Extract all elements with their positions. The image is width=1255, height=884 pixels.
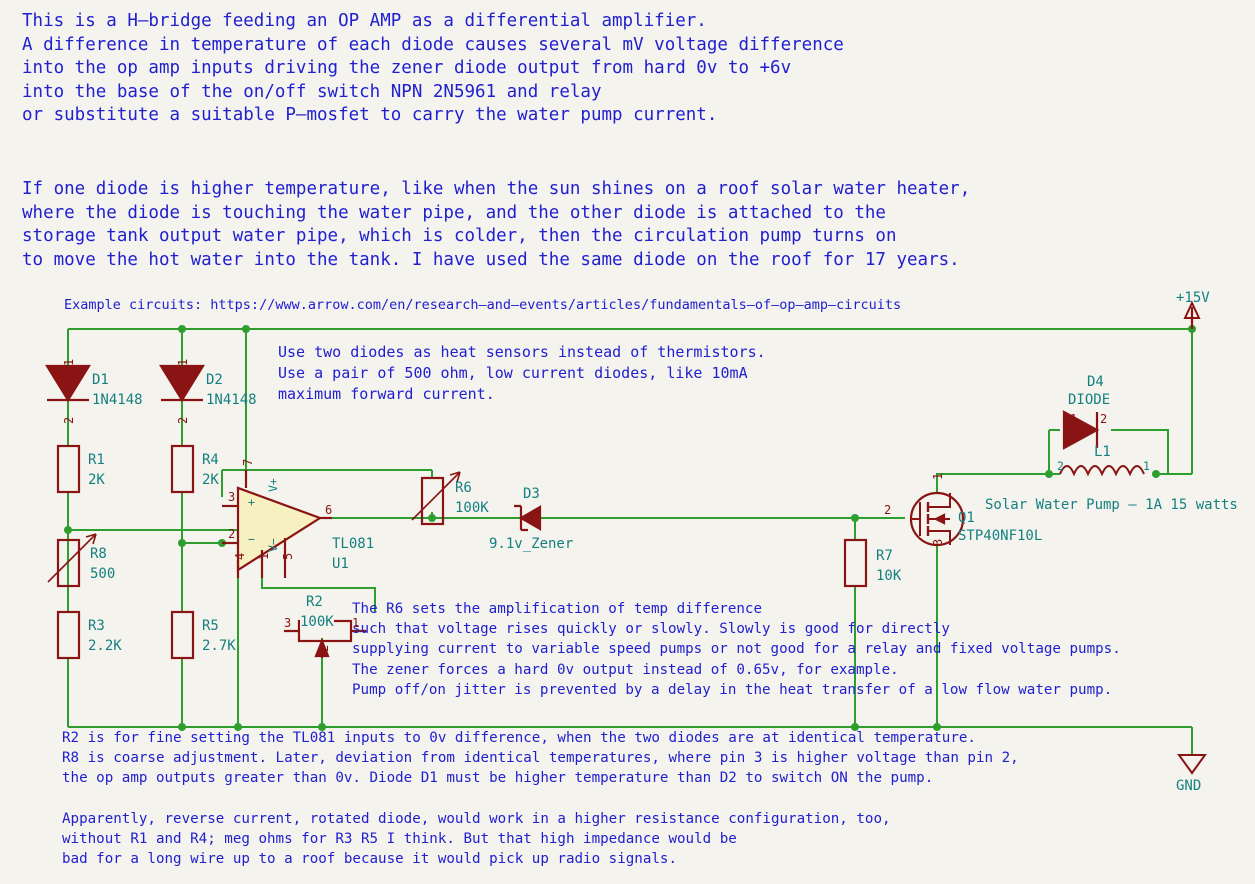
u1-minus-symbol: −	[248, 532, 255, 546]
r4-ref-label: R4	[202, 452, 219, 468]
r2-ref-label: R2	[306, 594, 323, 610]
q1-ref-label: Q1	[958, 510, 975, 526]
q1-pin2: 2	[884, 503, 891, 517]
d1-value-label: 1N4148	[92, 392, 143, 408]
junction-pump-right	[1152, 470, 1160, 478]
vcc-label: +15V	[1176, 290, 1210, 306]
r6-note: The R6 sets the amplification of temp di…	[352, 599, 1121, 700]
diode-note: Use two diodes as heat sensors instead o…	[278, 342, 766, 405]
diode-note-line-2: Use a pair of 500 ohm, low current diode…	[278, 364, 748, 382]
schematic-canvas: This is a H—bridge feeding an OP AMP as …	[0, 0, 1255, 884]
u1-vminus-symbol: V−	[266, 538, 280, 552]
gnd-triangle	[1179, 755, 1205, 773]
d1-pin1: 1	[62, 359, 76, 366]
scenario-line-4: to move the hot water into the tank. I h…	[22, 250, 960, 270]
r1-body	[58, 446, 79, 492]
scenario-line-1: If one diode is higher temperature, like…	[22, 179, 970, 199]
d2-ref-label: D2	[206, 372, 223, 388]
l1-pin2: 2	[1057, 459, 1064, 473]
u1-pin1: 1	[257, 553, 271, 560]
l1-pin1: 1	[1143, 459, 1150, 473]
r1-ref-label: R1	[88, 452, 105, 468]
l1-ref-label: L1	[1094, 444, 1111, 460]
r8-ref-label: R8	[90, 546, 107, 562]
q1-body-arrow	[936, 515, 944, 523]
d4-pin1: 1	[1070, 412, 1077, 426]
adjust-note-line-2: R8 is coarse adjustment. Later, deviatio…	[62, 750, 1019, 766]
junction-node-a	[64, 526, 72, 534]
r1-value-label: 2K	[88, 472, 105, 488]
intro-line-1: This is a H—bridge feeding an OP AMP as …	[22, 11, 707, 31]
r6-value-label: 100K	[455, 500, 489, 516]
q1-pin3: 3	[931, 539, 945, 546]
d3-ref-label: D3	[523, 486, 540, 502]
junction-gate	[851, 514, 859, 522]
d3-value-label: 9.1v_Zener	[489, 536, 573, 552]
r8-value-label: 500	[90, 566, 115, 582]
gnd-label: GND	[1176, 778, 1201, 794]
r6-note-line-3: supplying current to variable speed pump…	[352, 641, 1121, 657]
intro-line-4: into the base of the on/off switch NPN 2…	[22, 82, 601, 102]
r2-value-label: 100K	[300, 614, 334, 630]
u1-pin2: 2	[228, 527, 235, 541]
intro-line-5: or substitute a suitable P—mosfet to car…	[22, 105, 717, 125]
r4-value-label: 2K	[202, 472, 219, 488]
r6-note-line-4: The zener forces a hard 0v output instea…	[352, 662, 899, 678]
intro-line-2: A difference in temperature of each diod…	[22, 35, 844, 55]
d1-triangle	[47, 366, 89, 400]
junction-node-b	[178, 539, 186, 547]
intro-note: This is a H—bridge feeding an OP AMP as …	[22, 10, 844, 128]
u1-pin6: 6	[325, 503, 332, 517]
u1-pin4: 4	[233, 553, 247, 560]
q1-pin1: 1	[931, 473, 945, 480]
r7-body	[845, 540, 866, 586]
r7-ref-label: R7	[876, 548, 893, 564]
d2-pin1: 1	[176, 359, 190, 366]
wire-drain-pump	[937, 474, 1049, 493]
junction-top-d2	[178, 325, 186, 333]
example-link-note[interactable]: Example circuits: https://www.arrow.com/…	[64, 297, 901, 313]
r3-value-label: 2.2K	[88, 638, 122, 654]
u1-pin5: 5	[281, 553, 295, 560]
l1-coils	[1060, 466, 1144, 474]
q1-value-label: STP40NF10L	[958, 528, 1042, 544]
r8-arrow-line	[48, 534, 96, 582]
diode-note-line-1: Use two diodes as heat sensors instead o…	[278, 343, 766, 361]
r2-pin1: 1	[352, 616, 359, 630]
d2-value-label: 1N4148	[206, 392, 257, 408]
r6-arrow-line	[412, 472, 460, 520]
scenario-note: If one diode is higher temperature, like…	[22, 178, 970, 272]
d2-pin2: 2	[176, 417, 190, 424]
u1-ref-label: U1	[332, 556, 349, 572]
adjust-note-line-3: the op amp outputs greater than 0v. Diod…	[62, 770, 933, 786]
r6-note-line-1: The R6 sets the amplification of temp di…	[352, 601, 762, 617]
r2-pin2: 2	[317, 645, 331, 652]
reverse-note-line-1: Apparently, reverse current, rotated dio…	[62, 811, 891, 827]
u1-pin3: 3	[228, 490, 235, 504]
r4-body	[172, 446, 193, 492]
d3-triangle	[521, 507, 540, 529]
r5-ref-label: R5	[202, 618, 219, 634]
reverse-note: Apparently, reverse current, rotated dio…	[62, 809, 891, 870]
d4-triangle	[1064, 412, 1097, 448]
adjust-note: R2 is for fine setting the TL081 inputs …	[62, 728, 1019, 789]
r3-ref-label: R3	[88, 618, 105, 634]
l1-caption-label: Solar Water Pump — 1A 15 watts	[985, 497, 1238, 513]
junction-pump-left	[1045, 470, 1053, 478]
d4-ref-label: D4	[1087, 374, 1104, 390]
diode-note-line-3: maximum forward current.	[278, 385, 495, 403]
r6-note-line-5: Pump off/on jitter is prevented by a del…	[352, 682, 1112, 698]
r5-value-label: 2.7K	[202, 638, 236, 654]
u1-plus-symbol: +	[248, 495, 255, 509]
r2-pin3: 3	[284, 616, 291, 630]
junction-r6-out	[428, 514, 436, 522]
adjust-note-line-1: R2 is for fine setting the TL081 inputs …	[62, 730, 976, 746]
reverse-note-line-3: bad for a long wire up to a roof because…	[62, 851, 677, 867]
reverse-note-line-2: without R1 and R4; meg ohms for R3 R5 I …	[62, 831, 737, 847]
intro-line-3: into the op amp inputs driving the zener…	[22, 58, 791, 78]
u1-value-label: TL081	[332, 536, 374, 552]
r3-body	[58, 612, 79, 658]
junction-top-vplus	[242, 325, 250, 333]
r6-ref-label: R6	[455, 480, 472, 496]
r6-note-line-2: such that voltage rises quickly or slowl…	[352, 621, 950, 637]
scenario-line-2: where the diode is touching the water pi…	[22, 203, 886, 223]
d1-pin2: 2	[62, 417, 76, 424]
d1-ref-label: D1	[92, 372, 109, 388]
u1-pin7: 7	[241, 459, 255, 466]
d2-triangle	[161, 366, 203, 400]
r7-value-label: 10K	[876, 568, 901, 584]
d4-value-label: DIODE	[1068, 392, 1110, 408]
r5-body	[172, 612, 193, 658]
scenario-line-3: storage tank output water pipe, which is…	[22, 226, 896, 246]
d4-pin2: 2	[1100, 412, 1107, 426]
u1-vplus-symbol: V+	[266, 478, 280, 492]
